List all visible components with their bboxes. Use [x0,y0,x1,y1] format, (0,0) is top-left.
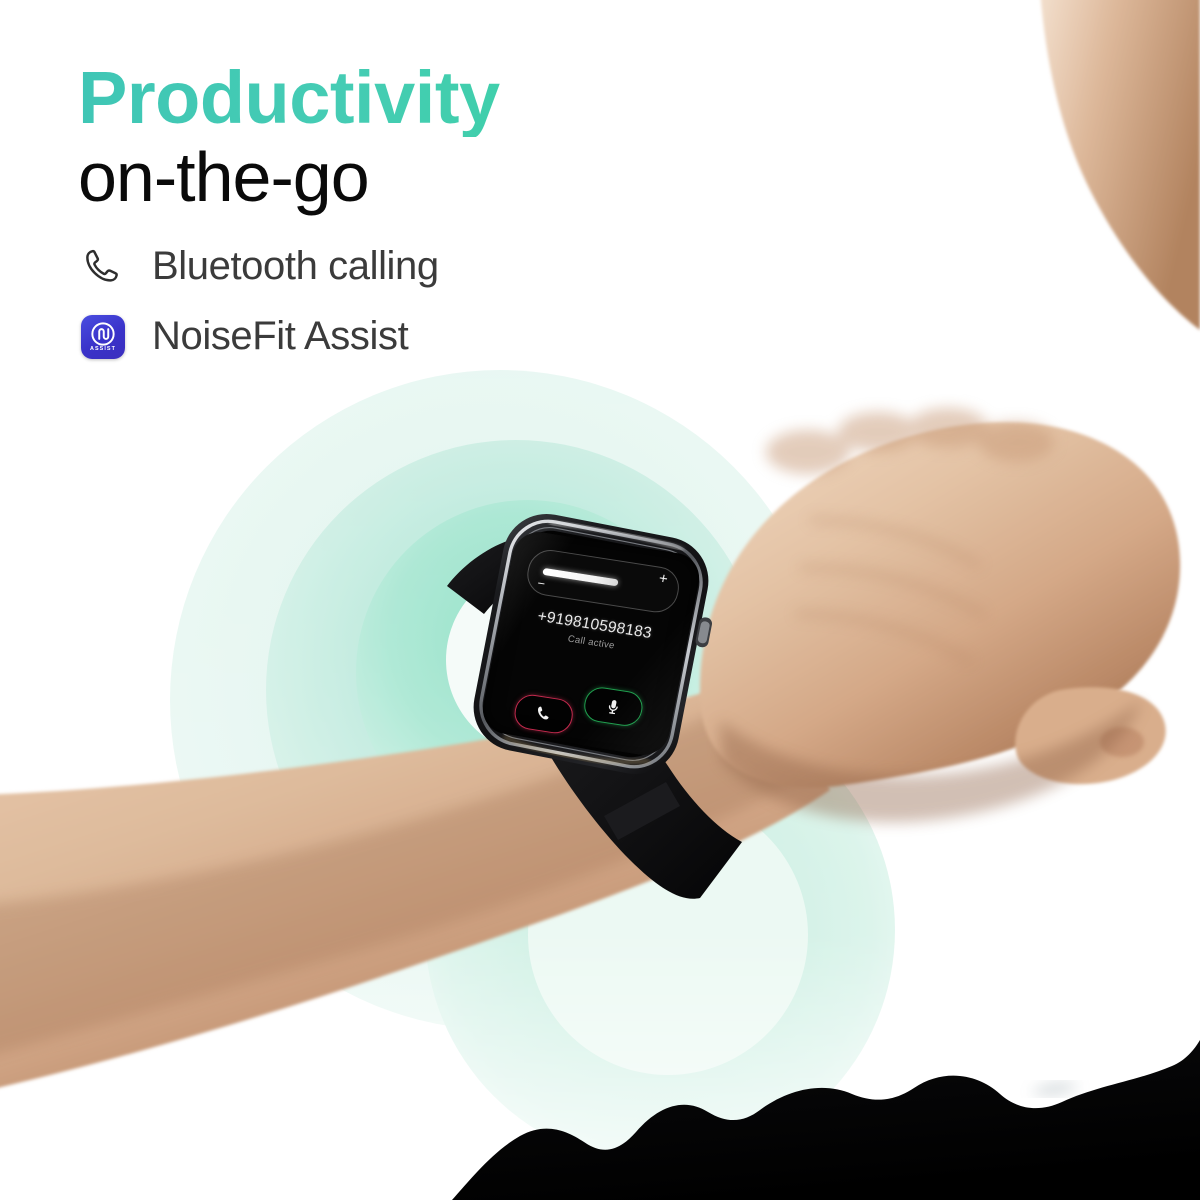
volume-down-icon[interactable]: − [536,576,546,590]
strap-keeper [604,782,680,840]
knuckles [766,408,1054,474]
assist-logo-mark [91,322,115,346]
hand-fist [700,422,1180,787]
volume-slider-fill [542,568,618,587]
microphone-icon [602,696,623,716]
feature-item-noisefit-assist: ASSIST NoiseFit Assist [78,310,698,364]
watch-screen: − + +919810598183 Call active [478,528,703,758]
call-action-bar [481,670,676,745]
forearm [0,668,830,1092]
wave-ring-lower [425,695,895,1165]
volume-up-icon[interactable]: + [658,571,670,587]
noisefit-assist-app-icon: ASSIST [78,312,128,362]
promo-banner: Productivity on-the-go Bluetooth calling [0,0,1200,1200]
assist-tile: ASSIST [81,315,125,359]
headline-line-2: on-the-go [78,141,698,214]
phone-handset-icon [531,703,555,726]
wave-ring-lower-core [528,795,808,1075]
hand-tendons [796,520,986,662]
volume-slider[interactable]: − + [524,547,683,615]
feature-label: Bluetooth calling [152,244,439,289]
upper-arm [1040,0,1200,330]
forearm-shading [0,672,828,1058]
assist-tile-label: ASSIST [90,347,116,352]
page-title: Productivity on-the-go [78,60,698,214]
fist-shadow [720,700,1142,822]
headline-line-1: Productivity [78,60,698,137]
watch-crown-button [695,616,713,648]
feature-label: NoiseFit Assist [152,314,408,359]
end-call-button[interactable] [511,692,575,735]
feature-item-bluetooth-calling: Bluetooth calling [78,240,698,294]
feature-list: Bluetooth calling ASSIST NoiseFit Assist [78,240,698,364]
phone-handset-icon [78,242,128,292]
thumbnail [1100,727,1144,757]
mute-button[interactable] [581,685,645,728]
copy-block: Productivity on-the-go Bluetooth calling [78,60,698,380]
thumb [1015,687,1166,784]
